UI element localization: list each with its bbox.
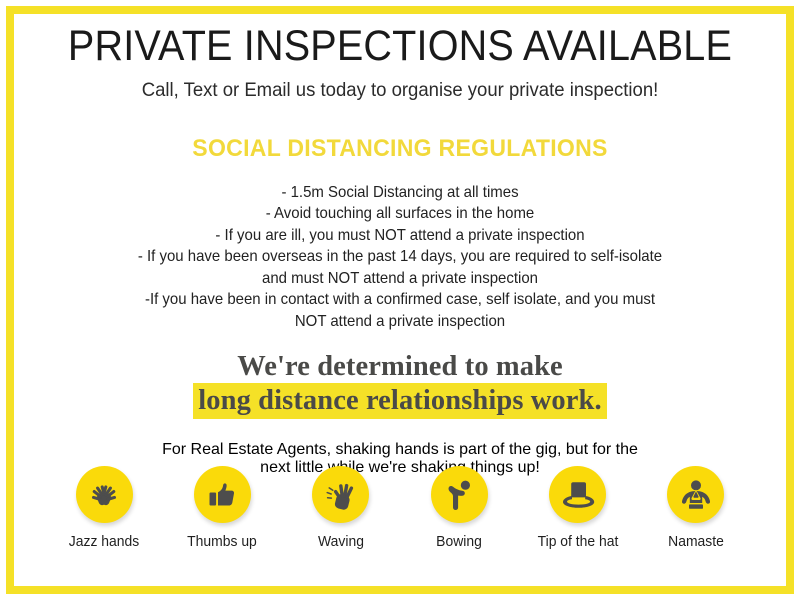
- gesture-label: Bowing: [407, 534, 511, 551]
- list-item: -If you have been in contact with a conf…: [37, 289, 763, 311]
- page-title: PRIVATE INSPECTIONS AVAILABLE: [52, 0, 748, 70]
- list-item: - 1.5m Social Distancing at all times: [37, 182, 763, 204]
- subtitle: Call, Text or Email us today to organise…: [41, 70, 759, 102]
- gesture-label: Tip of the hat: [526, 534, 630, 551]
- section-title-social-distancing: SOCIAL DISTANCING REGULATIONS: [37, 103, 763, 163]
- tagline-line-2-wrapper: long distance relationships work.: [22, 383, 778, 419]
- list-item: - If you have been overseas in the past …: [37, 246, 763, 268]
- gesture-label: Namaste: [644, 534, 748, 551]
- list-item: - If you are ill, you must NOT attend a …: [37, 225, 763, 247]
- social-distancing-rules-list: - 1.5m Social Distancing at all times - …: [22, 163, 778, 333]
- bowing-person-icon: [431, 466, 488, 523]
- gesture-item-jazz-hands: Jazz hands: [50, 466, 158, 551]
- gesture-label: Thumbs up: [171, 534, 275, 551]
- tagline-line-1: We're determined to make: [22, 350, 778, 383]
- list-item: and must NOT attend a private inspection: [37, 268, 763, 290]
- gesture-item-namaste: Namaste: [642, 466, 750, 551]
- poster: PRIVATE INSPECTIONS AVAILABLE Call, Text…: [0, 0, 800, 600]
- list-item: NOT attend a private inspection: [37, 311, 763, 333]
- jazz-hands-icon: [76, 466, 133, 523]
- gesture-item-bowing: Bowing: [405, 466, 513, 551]
- list-item: - Avoid touching all surfaces in the hom…: [37, 203, 763, 225]
- gesture-item-tip-of-the-hat: Tip of the hat: [524, 466, 632, 551]
- gesture-icon-row: Jazz hands Thumbs up: [22, 466, 778, 551]
- namaste-icon: [667, 466, 724, 523]
- thumbs-up-icon: [194, 466, 251, 523]
- tagline-highlight: long distance relationships work.: [193, 383, 606, 419]
- top-hat-icon: [549, 466, 606, 523]
- gesture-item-thumbs-up: Thumbs up: [168, 466, 276, 551]
- gesture-item-waving: Waving: [287, 466, 395, 551]
- gesture-label: Waving: [289, 534, 393, 551]
- waving-hand-icon: [312, 466, 369, 523]
- closing-line-1: For Real Estate Agents, shaking hands is…: [22, 441, 778, 459]
- gesture-label: Jazz hands: [52, 534, 156, 551]
- tagline: We're determined to make long distance r…: [22, 332, 778, 419]
- closing-paragraph: [37, 419, 763, 441]
